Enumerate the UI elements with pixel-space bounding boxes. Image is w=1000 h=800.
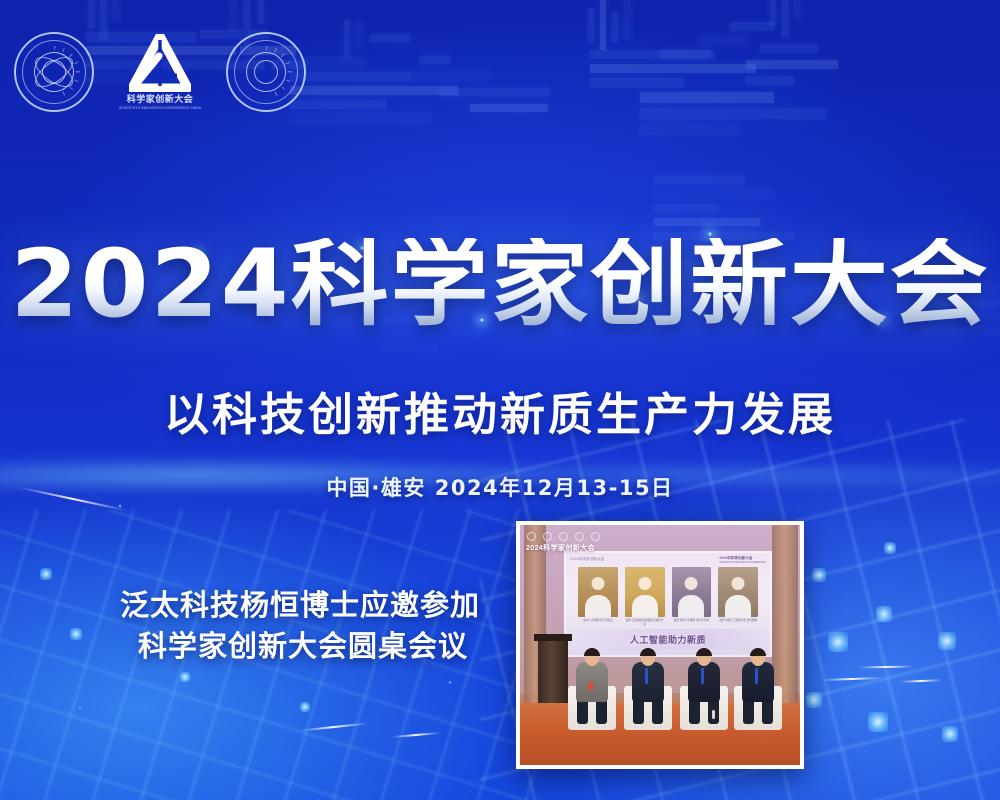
speaker-label: 嘉宾 中国人工智能学会 常务理事	[718, 619, 758, 626]
overlay-logo-icons	[523, 532, 641, 541]
china-association-science-technology-seal	[14, 32, 94, 112]
overlay-logo-icon	[591, 532, 600, 541]
speaker-card	[718, 567, 758, 617]
screen-speaker-cards	[578, 567, 758, 617]
event-photo: 2024科学家创新大会 2024科学家创新大会 SCIENTISTS INNOV…	[520, 525, 800, 765]
logo-row: 科学家创新大会 SCIENTISTS INNOVATION CONFERENCE…	[14, 32, 306, 112]
conference-poster: 科学家创新大会 SCIENTISTS INNOVATION CONFERENCE…	[0, 0, 1000, 800]
microphone-icon	[712, 710, 715, 719]
speaker-card	[578, 567, 618, 617]
logo-mark-text: 科学家创新大会	[127, 95, 194, 104]
panelist	[572, 640, 612, 724]
speaker-card	[625, 567, 665, 617]
page-title: 2024科学家创新大会	[0, 238, 1000, 332]
screen-speaker-names: 主持人 中国科学院 研究员 嘉宾 泛太科技创新集团 首席科学家 嘉宾 清华大学教…	[578, 619, 758, 626]
screen-header-right: 2024科学家创新大会 SCIENTISTS INNOVATION CONFER…	[719, 556, 766, 564]
seal-core-icon	[246, 52, 286, 92]
event-photo-frame: 2024科学家创新大会 2024科学家创新大会 SCIENTISTS INNOV…	[516, 521, 804, 769]
page-subtitle: 以科技创新推动新质生产力发展	[0, 378, 1000, 443]
photo-overlay-title: 2024科学家创新大会	[523, 543, 641, 553]
photo-podium	[538, 639, 568, 703]
main-title-block: 2024科学家创新大会	[0, 238, 1000, 332]
event-date-location: 中国·雄安 2024年12月13-15日	[0, 472, 1000, 502]
speaker-card	[672, 567, 712, 617]
panelist	[628, 640, 668, 724]
panelist	[738, 640, 778, 724]
caption-line-1: 泛太科技杨恒博士应邀参加	[120, 588, 480, 622]
overlay-logo-icon	[575, 532, 584, 541]
xiongan-institute-seal	[226, 32, 306, 112]
caption-block: 泛太科技杨恒博士应邀参加 科学家创新大会圆桌会议	[120, 585, 520, 667]
panelist	[684, 640, 724, 724]
logo-mark-subtext: SCIENTISTS INNOVATION CONFERENCE CHINA	[119, 107, 201, 111]
photo-overlay-banner: 2024科学家创新大会	[523, 529, 641, 555]
speaker-label: 嘉宾 清华大学教授 博士生导师	[672, 619, 712, 626]
scientists-innovation-conference-logo: 科学家创新大会 SCIENTISTS INNOVATION CONFERENCE…	[118, 34, 202, 111]
triangle-a-icon	[129, 34, 191, 92]
overlay-logo-icon	[527, 532, 536, 541]
speaker-label: 主持人 中国科学院 研究员	[578, 619, 618, 626]
overlay-logo-icon	[559, 532, 568, 541]
overlay-logo-icon	[543, 532, 552, 541]
screen-header-left: 2024科学家创新大会	[570, 556, 605, 561]
screen-header-right-sub: SCIENTISTS INNOVATION CONFERENCE	[719, 561, 766, 564]
speaker-label: 嘉宾 泛太科技创新集团 首席科学家	[625, 619, 665, 626]
caption-line-2: 科学家创新大会圆桌会议	[120, 626, 520, 667]
